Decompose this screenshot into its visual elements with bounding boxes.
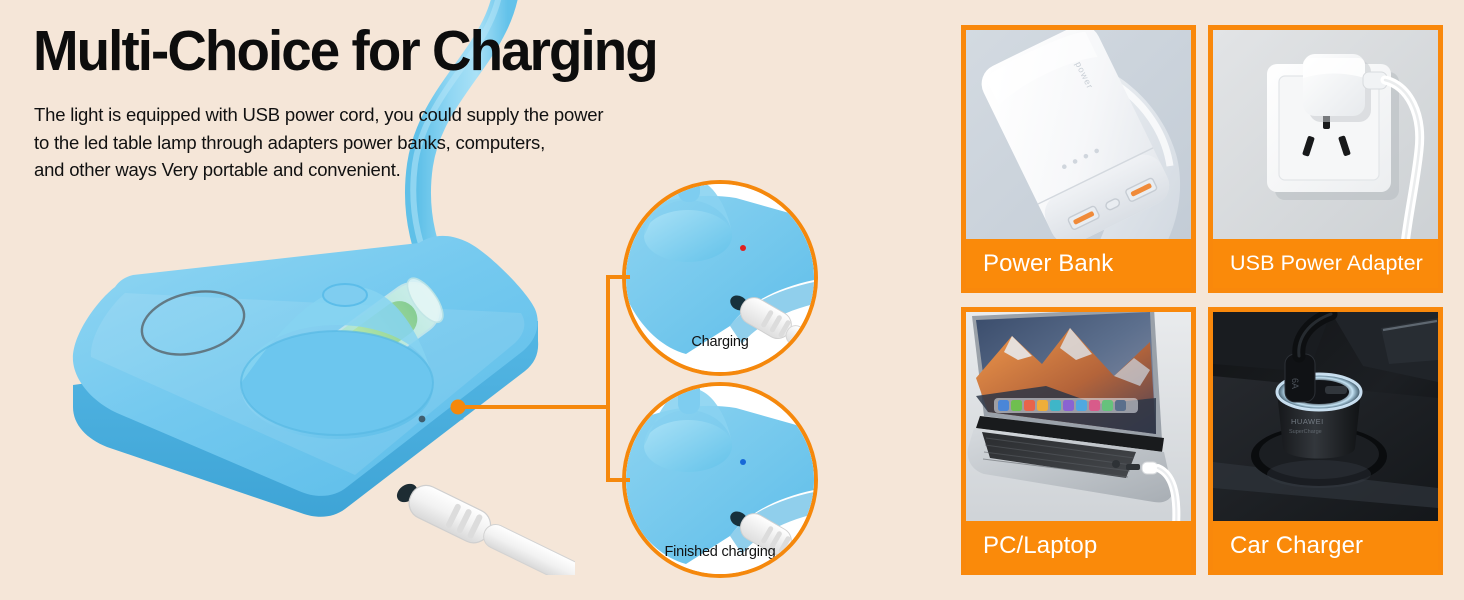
power-source-grid: power [961, 25, 1436, 575]
description-line-3: and other ways Very portable and conveni… [34, 156, 603, 184]
card-usb-power-adapter[interactable]: USB Power Adapter [1208, 25, 1443, 293]
led-indicator-blue-icon [740, 459, 746, 465]
card-caption-pc-laptop: PC/Laptop [966, 521, 1191, 570]
car-charger-photo: HUAWEI SuperCharge 6A [1213, 312, 1438, 521]
card-pc-laptop[interactable]: PC/Laptop [961, 307, 1196, 575]
power-bank-photo: power [966, 30, 1191, 239]
usb-adapter-photo [1213, 30, 1438, 239]
callout-leader-line [440, 180, 670, 580]
svg-text:6A: 6A [1290, 378, 1300, 389]
laptop-photo [966, 312, 1191, 521]
svg-text:SuperCharge: SuperCharge [1289, 429, 1322, 435]
description-text: The light is equipped with USB power cor… [34, 101, 603, 184]
description-line-2: to the led table lamp through adapters p… [34, 129, 603, 157]
card-caption-usb-power-adapter: USB Power Adapter [1213, 239, 1438, 288]
led-indicator-icon [419, 416, 426, 423]
description-line-1: The light is equipped with USB power cor… [34, 101, 603, 129]
card-power-bank[interactable]: power [961, 25, 1196, 293]
card-caption-power-bank: Power Bank [966, 239, 1191, 288]
card-caption-car-charger: Car Charger [1213, 521, 1438, 570]
led-indicator-red-icon [740, 245, 746, 251]
card-car-charger[interactable]: HUAWEI SuperCharge 6A Car Charger [1208, 307, 1443, 575]
svg-text:HUAWEI: HUAWEI [1291, 417, 1324, 426]
leader-anchor-dot [451, 400, 466, 415]
page-title: Multi-Choice for Charging [33, 22, 657, 80]
promo-banner: Charging Finished charging Multi-Choice … [0, 0, 1464, 600]
